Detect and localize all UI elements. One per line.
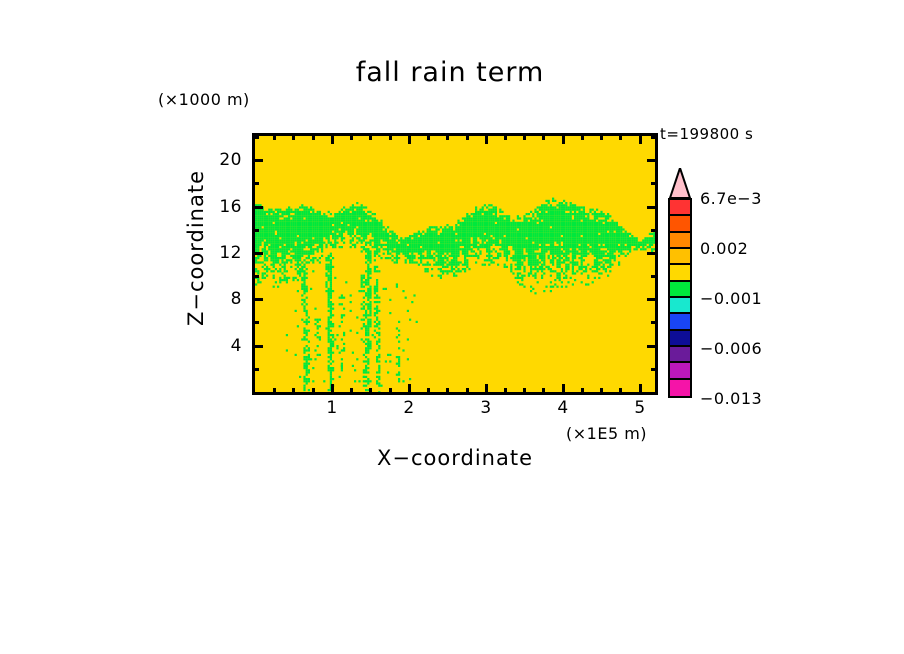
axis-tick — [651, 229, 658, 232]
time-annotation: t=199800 s — [660, 125, 753, 143]
axis-tick — [350, 388, 353, 395]
axis-tick — [647, 206, 658, 209]
axis-tick — [562, 384, 565, 395]
axis-tick — [504, 388, 507, 395]
axis-tick — [252, 298, 263, 301]
chart-root: fall rain term (×1000 m) t=199800 s 4812… — [0, 0, 904, 654]
axis-tick — [651, 368, 658, 371]
contour-field — [255, 136, 655, 392]
colorbar-band — [670, 216, 690, 232]
x-tick-label: 2 — [379, 398, 439, 418]
colorbar-tick-label: −0.006 — [700, 339, 762, 358]
page-title: fall rain term — [0, 57, 904, 88]
axis-tick — [639, 384, 642, 395]
axis-tick — [252, 368, 259, 371]
axis-tick — [312, 388, 315, 395]
axis-tick — [562, 133, 565, 144]
x-axis-title: X−coordinate — [252, 446, 658, 470]
axis-tick — [542, 388, 545, 395]
axis-tick — [252, 345, 263, 348]
x-tick-label: 5 — [610, 398, 670, 418]
axis-tick — [369, 133, 372, 140]
axis-tick — [252, 229, 259, 232]
axis-tick — [252, 159, 263, 162]
axis-tick — [466, 388, 469, 395]
axis-tick — [523, 133, 526, 140]
axis-tick — [647, 159, 658, 162]
axis-tick — [523, 388, 526, 395]
axis-tick — [647, 252, 658, 255]
y-tick-label: 20 — [182, 150, 242, 170]
axis-tick — [389, 133, 392, 140]
axis-tick — [369, 388, 372, 395]
axis-tick — [252, 136, 259, 139]
axis-tick — [408, 133, 411, 144]
colorbar-band — [670, 298, 690, 314]
colorbar-band — [670, 200, 690, 216]
axis-tick — [331, 384, 334, 395]
axis-tick — [651, 275, 658, 278]
y-axis-title: Z−coordinate — [184, 170, 218, 326]
axis-tick — [427, 388, 430, 395]
y-tick-label: 4 — [182, 336, 242, 356]
colorbar-band — [670, 282, 690, 298]
axis-tick — [485, 384, 488, 395]
axis-tick — [312, 133, 315, 140]
axis-tick — [446, 133, 449, 140]
axis-tick — [466, 133, 469, 140]
axis-tick — [292, 388, 295, 395]
axis-tick — [273, 133, 276, 140]
axis-tick — [651, 136, 658, 139]
axis-tick — [252, 321, 259, 324]
axis-tick — [581, 388, 584, 395]
axis-tick — [619, 388, 622, 395]
colorbar-tick-label: −0.001 — [700, 289, 762, 308]
axis-tick — [408, 384, 411, 395]
colorbar-band — [670, 314, 690, 330]
axis-tick — [581, 133, 584, 140]
axis-tick — [389, 388, 392, 395]
axis-tick — [292, 133, 295, 140]
x-tick-label: 3 — [456, 398, 516, 418]
colorbar-arrow-icon — [668, 168, 692, 198]
colorbar-band — [670, 331, 690, 347]
axis-tick — [252, 252, 263, 255]
colorbar-band — [670, 233, 690, 249]
colorbar-band — [670, 249, 690, 265]
axis-tick — [446, 388, 449, 395]
colorbar-tick-label: 6.7e−3 — [700, 189, 762, 208]
axis-tick — [273, 388, 276, 395]
colorbar-tick-label: −0.013 — [700, 389, 762, 408]
x-tick-label: 1 — [302, 398, 362, 418]
colorbar-band — [670, 347, 690, 363]
chart-title-text: fall rain term — [356, 57, 545, 88]
axis-tick — [600, 388, 603, 395]
axis-tick — [542, 133, 545, 140]
axis-tick — [427, 133, 430, 140]
colorbar-band — [670, 380, 690, 396]
axis-tick — [252, 206, 263, 209]
colorbar-tick-label: 0.002 — [700, 239, 748, 258]
colorbar-band — [670, 265, 690, 281]
y-axis-unit-label: (×1000 m) — [158, 90, 250, 109]
axis-tick — [651, 182, 658, 185]
axis-tick — [252, 182, 259, 185]
colorbar-band — [670, 363, 690, 379]
x-tick-label: 4 — [533, 398, 593, 418]
axis-tick — [647, 345, 658, 348]
axis-tick — [350, 133, 353, 140]
colorbar — [668, 168, 692, 400]
axis-tick — [600, 133, 603, 140]
axis-tick — [485, 133, 488, 144]
plot-area — [252, 133, 658, 395]
axis-tick — [639, 133, 642, 144]
axis-tick — [647, 298, 658, 301]
colorbar-bands — [668, 198, 692, 398]
x-axis-unit-label: (×1E5 m) — [566, 424, 647, 443]
axis-tick — [504, 133, 507, 140]
axis-tick — [252, 275, 259, 278]
axis-tick — [651, 321, 658, 324]
axis-tick — [331, 133, 334, 144]
axis-tick — [619, 133, 622, 140]
